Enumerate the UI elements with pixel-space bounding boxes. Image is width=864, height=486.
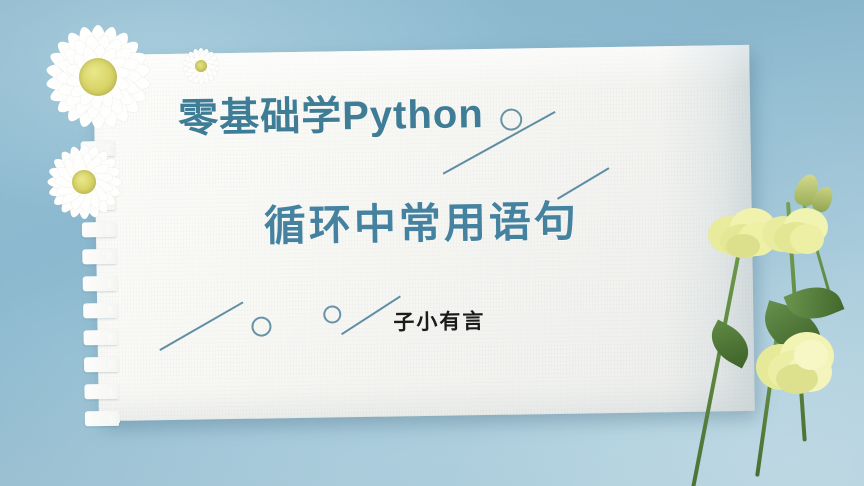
flower-leaf xyxy=(703,320,757,369)
paper-tab xyxy=(82,249,116,265)
paper-surface: 零基础学Python 循环中常用语句 子小有言 xyxy=(93,45,755,421)
lisianthus-group xyxy=(690,178,864,486)
paper-tab xyxy=(84,357,118,373)
paper-tab xyxy=(84,384,118,400)
decorative-circle-lower-right xyxy=(323,305,341,323)
paper-tab xyxy=(83,330,117,346)
slide-title: 零基础学Python xyxy=(178,81,484,144)
decorative-diagonal-line-lower-left xyxy=(159,301,243,351)
decorative-circle-lower-left xyxy=(251,316,271,336)
slide-author: 子小有言 xyxy=(393,305,485,336)
daisy-small xyxy=(36,136,132,228)
decorative-circle-title xyxy=(500,108,522,130)
daisy-large xyxy=(28,12,168,142)
slide-subtitle: 循环中常用语句 xyxy=(263,188,579,254)
daisy-center xyxy=(72,170,96,194)
daisy-center xyxy=(195,60,207,72)
paper-tab xyxy=(83,276,117,292)
decorative-diagonal-line-lower-right xyxy=(341,295,401,335)
paper-tab xyxy=(83,303,117,319)
paper-tab xyxy=(85,411,119,427)
lisianthus-bloom-lower xyxy=(754,330,840,400)
daisy-center xyxy=(79,58,117,96)
paper-sheet: 零基础学Python 循环中常用语句 子小有言 xyxy=(93,45,755,421)
daisy-tiny xyxy=(178,44,224,88)
presentation-slide: 零基础学Python 循环中常用语句 子小有言 xyxy=(0,0,864,486)
